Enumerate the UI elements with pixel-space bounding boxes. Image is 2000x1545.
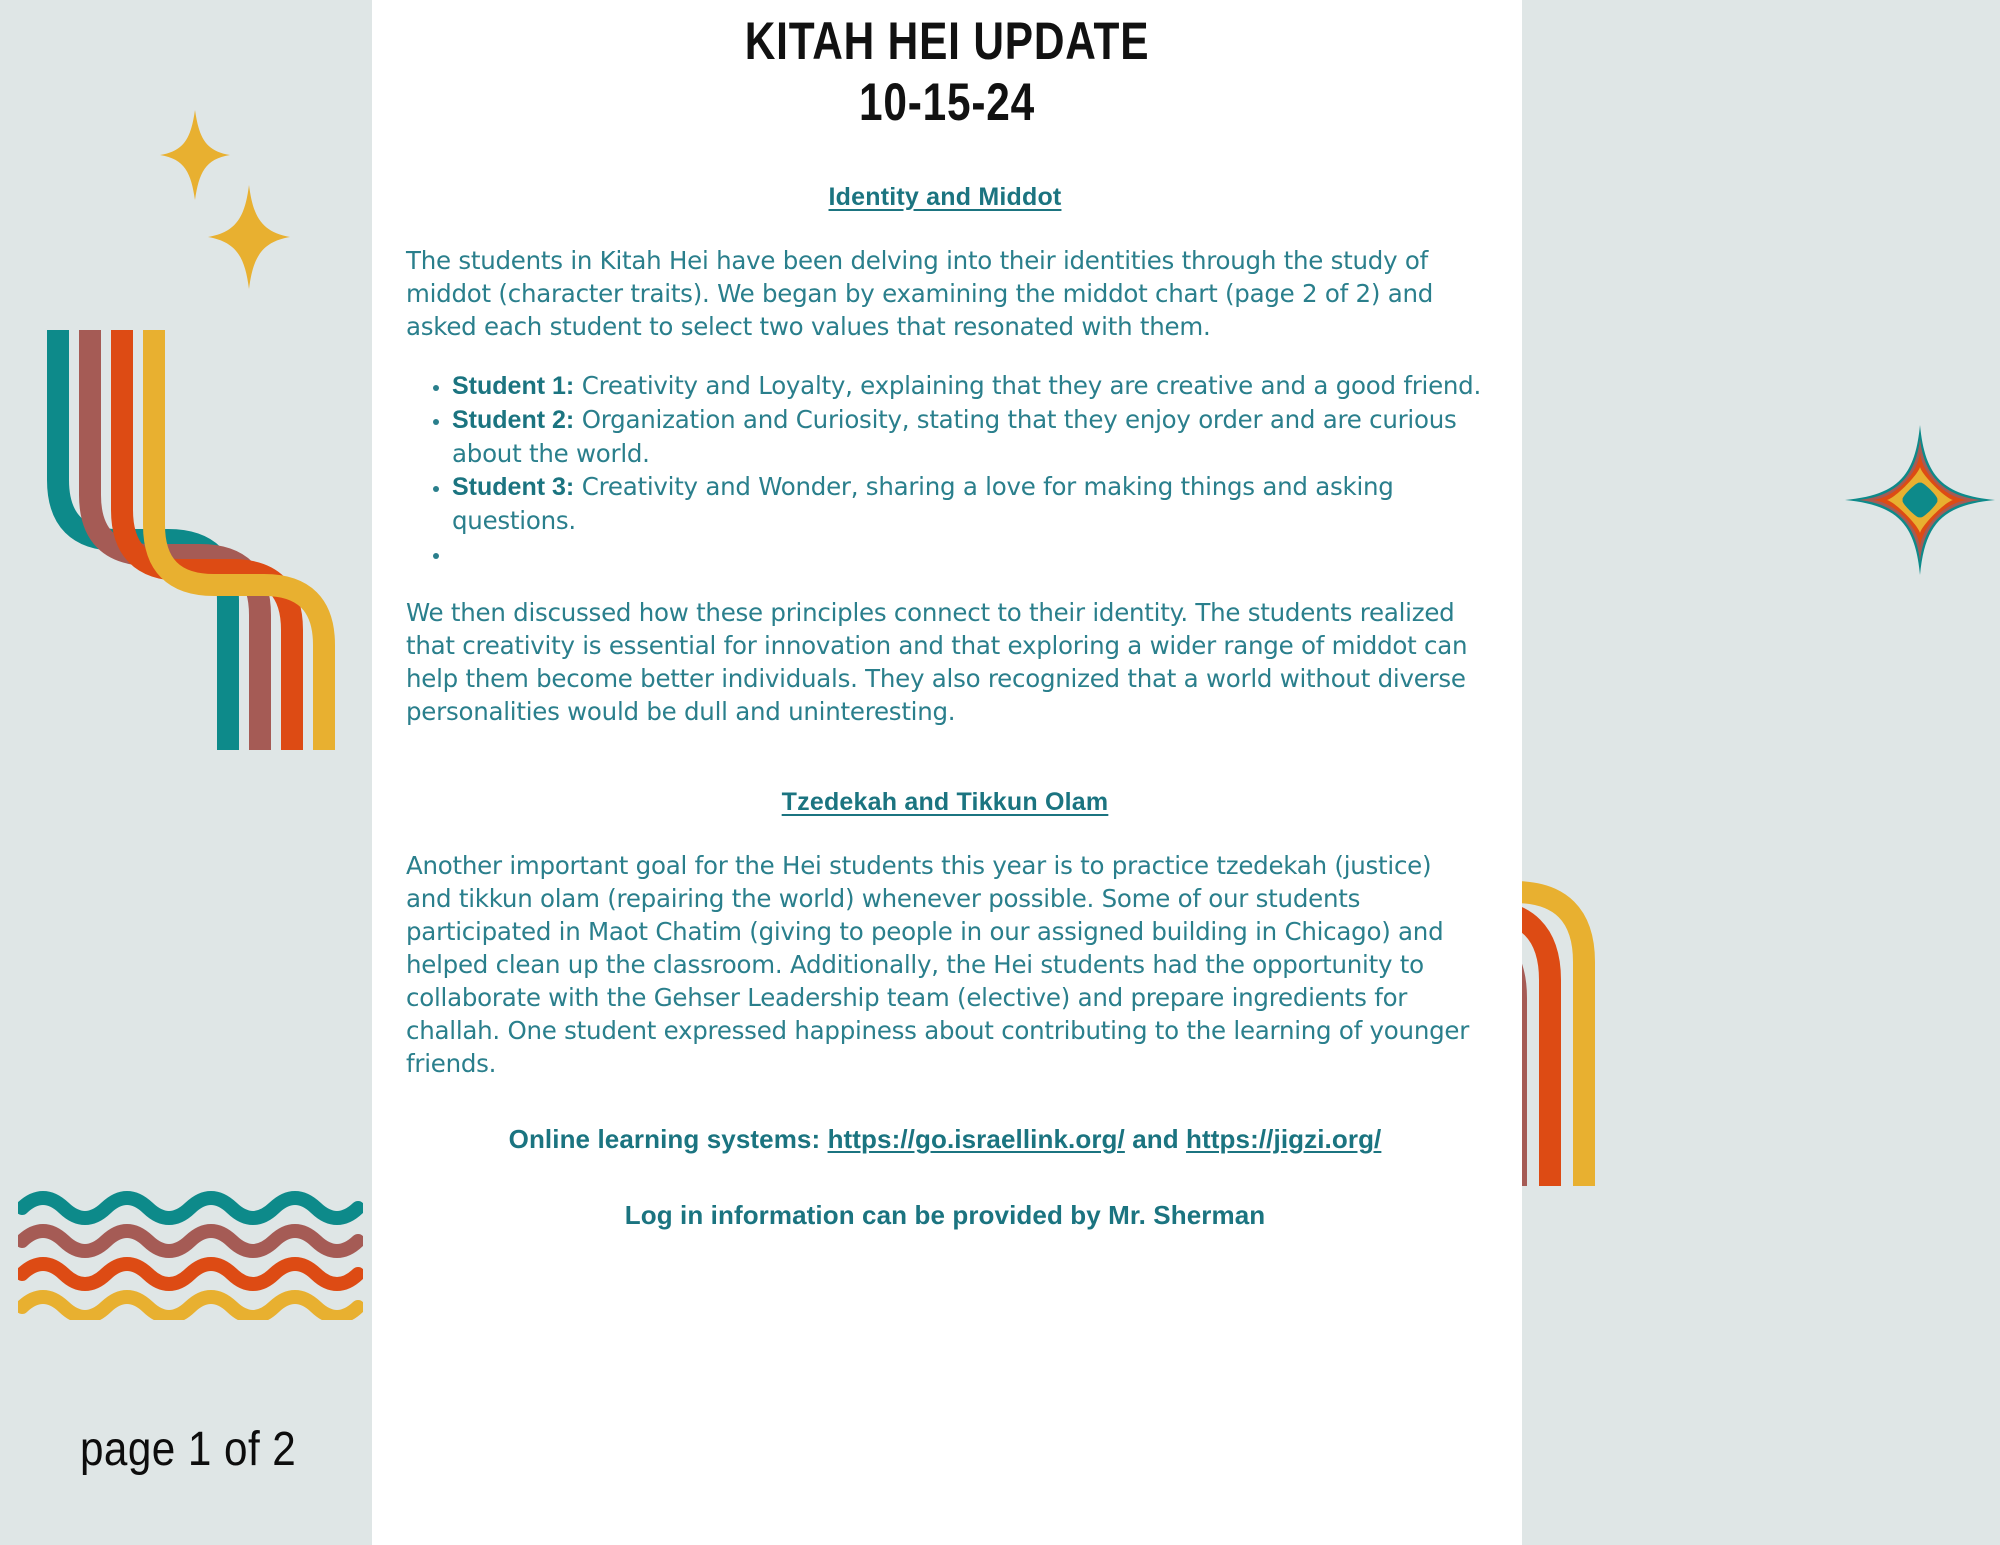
identity-outro-paragraph: We then discussed how these principles c… bbox=[406, 596, 1484, 728]
student-label: Student 3: bbox=[452, 473, 574, 501]
login-note: Log in information can be provided by Mr… bbox=[406, 1198, 1484, 1232]
four-point-star-icon bbox=[160, 110, 230, 200]
list-item: Student 2: Organization and Curiosity, s… bbox=[452, 403, 1484, 470]
section-heading-tzedekah: Tzedekah and Tikkun Olam bbox=[406, 788, 1484, 817]
wavy-lines-icon bbox=[18, 1190, 363, 1320]
list-item: Student 1: Creativity and Loyalty, expla… bbox=[452, 369, 1484, 403]
list-item: Student 3: Creativity and Wonder, sharin… bbox=[452, 470, 1484, 537]
student-text: Creativity and Loyalty, explaining that … bbox=[574, 371, 1481, 400]
student-list: Student 1: Creativity and Loyalty, expla… bbox=[406, 369, 1484, 570]
student-text: Organization and Curiosity, stating that… bbox=[452, 405, 1457, 468]
student-text: Creativity and Wonder, sharing a love fo… bbox=[452, 472, 1394, 535]
four-point-star-icon bbox=[208, 185, 290, 289]
student-label: Student 2: bbox=[452, 406, 574, 434]
link-conjunction: and bbox=[1132, 1124, 1179, 1154]
page-number: page 1 of 2 bbox=[80, 1422, 296, 1477]
poster-page: page 1 of 2 KITAH HEI UPDATE 10-15-24 Id… bbox=[0, 0, 2000, 1545]
footer-links-block: Online learning systems: https://go.isra… bbox=[406, 1122, 1484, 1232]
list-item-empty bbox=[452, 537, 1484, 570]
identity-intro-paragraph: The students in Kitah Hei have been delv… bbox=[406, 244, 1484, 343]
content-panel: KITAH HEI UPDATE 10-15-24 Identity and M… bbox=[372, 0, 1522, 1545]
page-title: KITAH HEI UPDATE bbox=[487, 0, 1407, 71]
systems-label: Online learning systems: bbox=[509, 1124, 821, 1154]
s-curve-stripes-icon bbox=[40, 330, 340, 750]
section-heading-identity: Identity and Middot bbox=[406, 183, 1484, 212]
article-body: Identity and Middot The students in Kita… bbox=[372, 183, 1522, 1232]
layered-four-point-star-icon bbox=[1845, 425, 1995, 575]
israellink-link[interactable]: https://go.israellink.org/ bbox=[828, 1124, 1125, 1154]
tzedekah-paragraph: Another important goal for the Hei stude… bbox=[406, 849, 1484, 1080]
online-learning-systems-line: Online learning systems: https://go.isra… bbox=[406, 1122, 1484, 1156]
jigzi-link[interactable]: https://jigzi.org/ bbox=[1186, 1124, 1381, 1154]
student-label: Student 1: bbox=[452, 372, 574, 400]
page-date: 10-15-24 bbox=[487, 71, 1407, 135]
